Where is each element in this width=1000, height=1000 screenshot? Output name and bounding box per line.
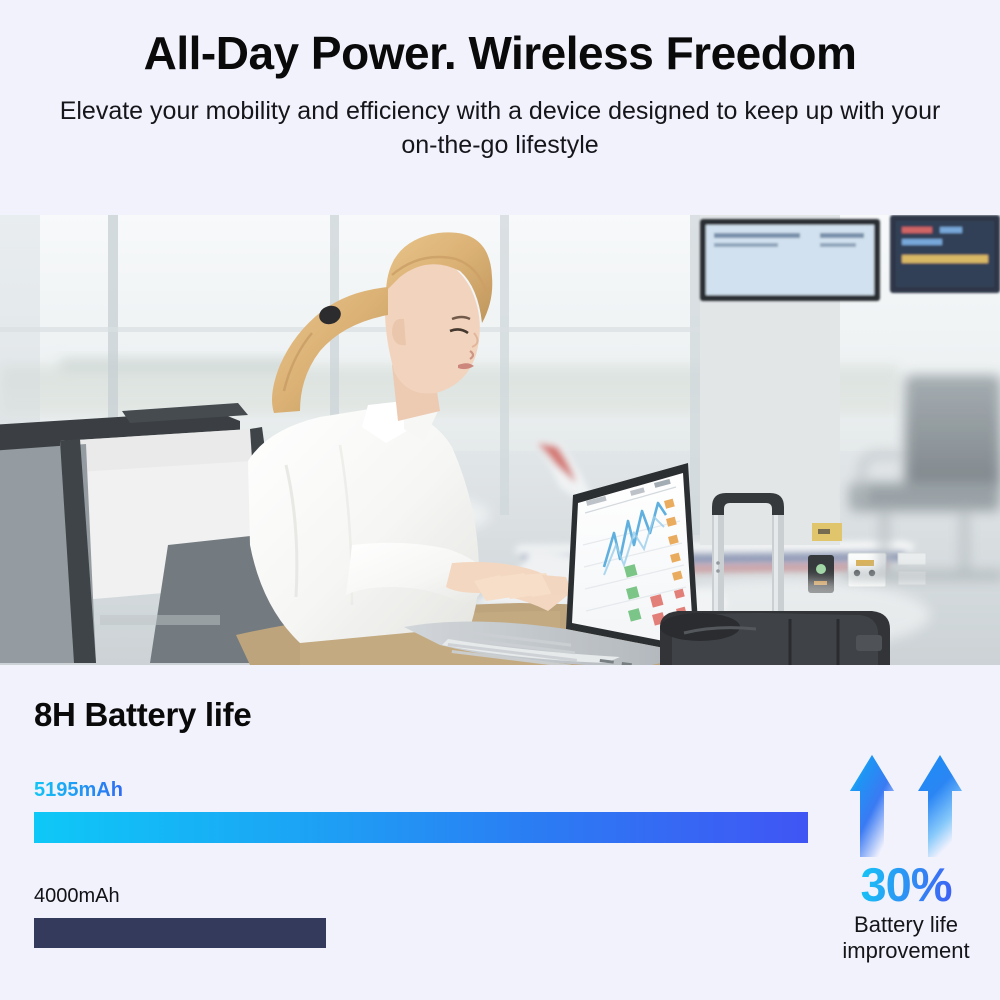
page-subtitle: Elevate your mobility and efficiency wit…: [35, 95, 965, 162]
secondary-bar: [34, 918, 326, 948]
double-up-arrow-icon: [842, 753, 970, 857]
infographic-page: All-Day Power. Wireless Freedom Elevate …: [0, 0, 1000, 1000]
battery-section-title: 8H Battery life: [34, 696, 251, 734]
improvement-caption: Battery life improvement: [812, 912, 1000, 965]
battery-bar-chart: 5195mAh 4000mAh: [34, 780, 824, 948]
airport-scene-illustration: [0, 215, 1000, 665]
primary-bar: [34, 812, 808, 843]
battery-section: 8H Battery life 5195mAh 4000mAh: [0, 665, 1000, 1000]
header-section: All-Day Power. Wireless Freedom Elevate …: [0, 0, 1000, 215]
page-title: All-Day Power. Wireless Freedom: [0, 26, 1000, 81]
improvement-percentage: 30%: [860, 861, 951, 908]
hero-photo: [0, 215, 1000, 665]
primary-bar-label: 5195mAh: [34, 780, 123, 800]
secondary-bar-label: 4000mAh: [34, 886, 824, 906]
improvement-stat-block: 30% Battery life improvement: [812, 753, 1000, 965]
